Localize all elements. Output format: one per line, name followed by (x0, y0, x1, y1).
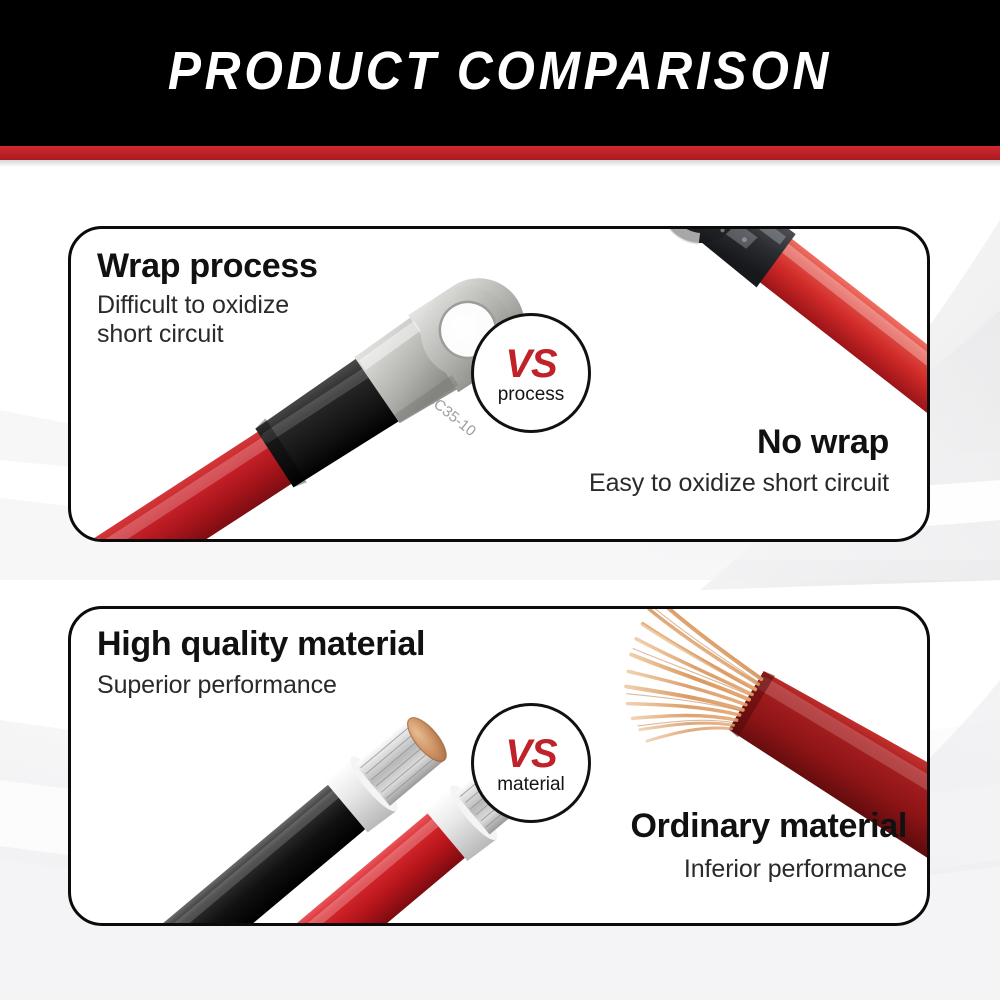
panel-top-left-subline: Difficult to oxidize short circuit (97, 291, 289, 349)
panel-bottom-right-headline: Ordinary material (631, 809, 907, 845)
panel-top-right-subline: Easy to oxidize short circuit (589, 469, 889, 498)
header-red-rule (0, 146, 1000, 160)
infographic-canvas: PRODUCT COMPARISON (0, 0, 1000, 1000)
header-rule-shadow (0, 160, 1000, 167)
svg-text:SC35-10: SC35-10 (422, 390, 479, 440)
vs-label: VS (505, 345, 556, 383)
panel-top-right-headline: No wrap (757, 425, 889, 461)
panel-bottom-right-subline: Inferior performance (684, 855, 907, 884)
vs-badge-process: VS process (471, 313, 591, 433)
tinned-copper-cables-image (101, 669, 521, 926)
vs-sublabel: process (498, 385, 565, 406)
page-title: PRODUCT COMPARISON (40, 44, 960, 98)
vs-badge-material: VS material (471, 703, 591, 823)
panel-bottom-left-headline: High quality material (97, 627, 425, 663)
vs-sublabel: material (497, 775, 565, 796)
vs-label: VS (505, 735, 556, 773)
unwrapped-lug-image (631, 226, 930, 439)
panel-top-left-headline: Wrap process (97, 249, 318, 285)
panel-bottom-left-subline: Superior performance (97, 671, 337, 700)
